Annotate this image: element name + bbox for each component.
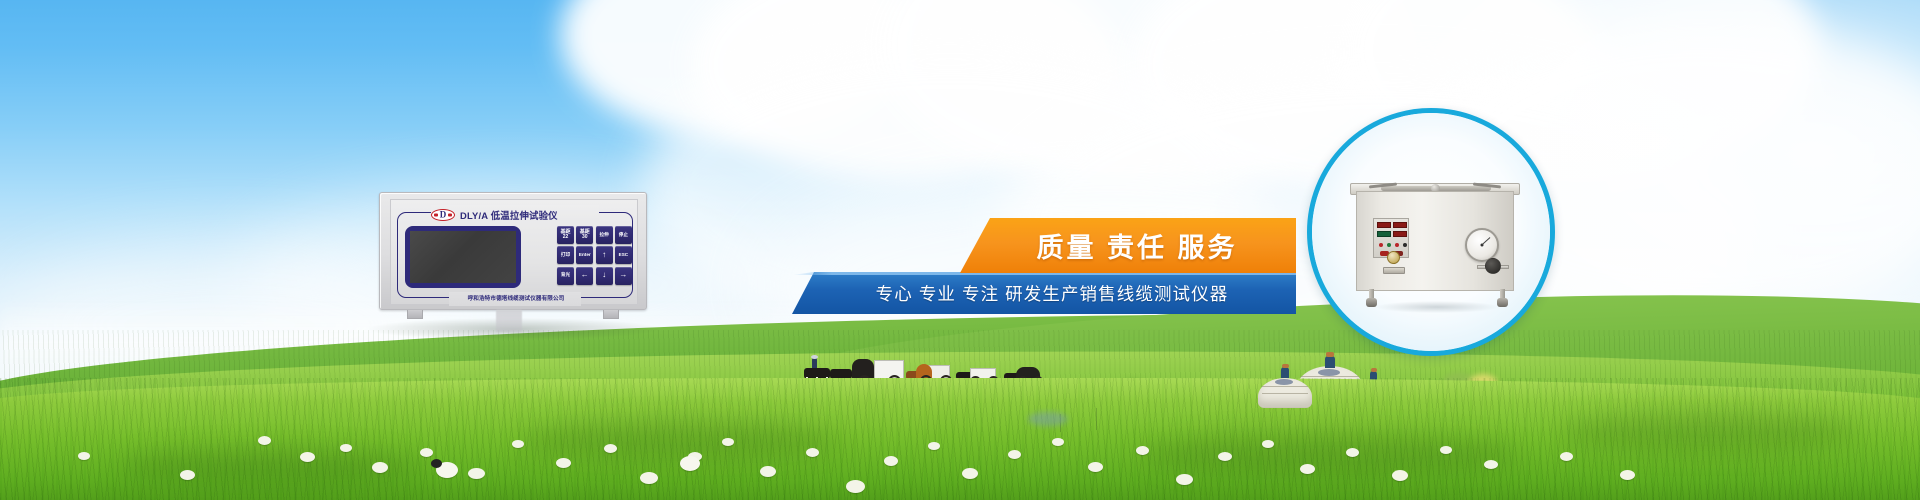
- yurt-decoration: [1318, 369, 1340, 376]
- sheep: [556, 458, 571, 468]
- indicator-light: [1395, 243, 1399, 247]
- sheep: [1052, 438, 1064, 446]
- sheep-foreground: [436, 462, 458, 478]
- sheep: [1300, 464, 1315, 474]
- sheep: [722, 438, 734, 446]
- yurt-crown: [1281, 367, 1289, 378]
- device-front-panel: D DLY/A 低温拉伸试验仪 基距22 基距30 拉伸 停止 打印 Enter…: [390, 199, 638, 305]
- sheep-foreground: [680, 456, 700, 471]
- sheep: [372, 462, 388, 473]
- time-display: [1393, 222, 1407, 228]
- sheep: [604, 444, 617, 453]
- sheep-head: [431, 459, 442, 468]
- yurt-band: [1262, 393, 1307, 394]
- yurt-decoration: [1275, 379, 1293, 385]
- sheep: [640, 472, 658, 484]
- key-print[interactable]: 打印: [557, 246, 574, 264]
- sheep: [1218, 452, 1232, 461]
- sheep: [806, 448, 819, 457]
- sheep: [340, 444, 352, 452]
- key-enter[interactable]: Enter: [576, 246, 593, 264]
- key-backlight[interactable]: 背光: [557, 267, 574, 285]
- product-circle-ring: [1307, 108, 1555, 356]
- tent-shape: [1028, 412, 1068, 426]
- key-arrow-up[interactable]: ↑: [596, 246, 613, 264]
- device-foot-left: [407, 310, 423, 319]
- control-display-row: [1377, 231, 1407, 237]
- sheep: [760, 466, 776, 477]
- key-arrow-right[interactable]: →: [615, 267, 632, 285]
- sheep: [1440, 446, 1452, 454]
- device-case: D DLY/A 低温拉伸试验仪 基距22 基距30 拉伸 停止 打印 Enter…: [379, 192, 647, 310]
- device-lcd-screen: [405, 226, 521, 288]
- device-company-name: 呼和浩特市德塔线缆测试仪器有限公司: [449, 293, 583, 305]
- set-display: [1377, 231, 1391, 237]
- herder-hat: [811, 355, 818, 359]
- key-stop[interactable]: 停止: [615, 226, 632, 244]
- logo-wing-left: [434, 213, 438, 216]
- caster-wheel-right: [1497, 289, 1508, 307]
- device-keypad: 基距22 基距30 拉伸 停止 打印 Enter ↑ ESC 背光 ← ↓ →: [557, 226, 633, 288]
- indicator-light: [1379, 243, 1383, 247]
- grass-shadow: [1560, 412, 1860, 452]
- yurt-band: [1262, 386, 1307, 387]
- blue-slogan-text: 专心 专业 专注 研发生产销售线缆测试仪器: [792, 272, 1296, 314]
- sheep: [846, 480, 865, 493]
- sheep: [1392, 470, 1408, 481]
- sheep: [1346, 448, 1359, 457]
- device-stand-post: [496, 310, 522, 332]
- pressure-gauge: [1465, 228, 1499, 262]
- brass-valve: [1387, 251, 1400, 264]
- device-model-title: DLY/A 低温拉伸试验仪: [460, 208, 558, 222]
- device-foot-right: [603, 310, 619, 319]
- chamber-shadow: [1376, 301, 1498, 313]
- key-arrow-down[interactable]: ↓: [596, 267, 613, 285]
- key-esc[interactable]: ESC: [615, 246, 632, 264]
- sheep: [1560, 452, 1573, 461]
- yurt: [1258, 364, 1312, 408]
- valve-plate: [1383, 267, 1405, 274]
- control-display-row: [1377, 222, 1407, 228]
- alarm-display: [1393, 231, 1407, 237]
- logo-letter: D: [440, 210, 447, 219]
- gauge-hub: [1481, 244, 1484, 247]
- sheep: [512, 440, 524, 448]
- caster-roller: [1497, 298, 1508, 307]
- key-gauge-22[interactable]: 基距22: [557, 226, 574, 244]
- drain-port: [1485, 258, 1501, 274]
- sheep: [928, 442, 940, 450]
- sheep: [258, 436, 271, 445]
- product-circle: [1307, 108, 1555, 356]
- sheep: [78, 452, 90, 460]
- key-arrow-left[interactable]: ←: [576, 267, 593, 285]
- sheep: [1620, 470, 1635, 480]
- sheep: [962, 468, 978, 479]
- sheep: [420, 448, 433, 457]
- fence-post: [1096, 408, 1097, 430]
- sheep: [180, 470, 195, 480]
- sheep: [884, 456, 898, 466]
- grass-shadow: [1140, 432, 1520, 476]
- orange-slogan-banner: 质量 责任 服务: [960, 218, 1296, 273]
- yurt-crown: [1325, 356, 1335, 368]
- sheep: [300, 452, 315, 462]
- orange-slogan-text: 质量 责任 服务: [960, 218, 1296, 273]
- sheep: [1008, 450, 1021, 459]
- device-title-row: D DLY/A 低温拉伸试验仪: [431, 208, 601, 221]
- key-stretch[interactable]: 拉伸: [596, 226, 613, 244]
- grass-shadow: [520, 420, 840, 460]
- logo-wing-right: [448, 213, 452, 216]
- sheep: [1176, 474, 1193, 485]
- aging-test-chamber: [1350, 175, 1520, 307]
- tensile-tester-device: D DLY/A 低温拉伸试验仪 基距22 基距30 拉伸 停止 打印 Enter…: [379, 192, 647, 318]
- lcd-surface: [410, 231, 516, 283]
- company-logo-icon: D: [431, 209, 455, 221]
- temp-display: [1377, 222, 1391, 228]
- blue-slogan-banner: 专心 专业 专注 研发生产销售线缆测试仪器: [792, 272, 1296, 314]
- sheep: [1088, 462, 1103, 472]
- indicator-light: [1387, 243, 1391, 247]
- yurt-cap: [1371, 368, 1377, 372]
- key-gauge-30[interactable]: 基距30: [576, 226, 593, 244]
- sheep: [1262, 440, 1274, 448]
- sheep: [468, 468, 485, 479]
- chamber-body: [1356, 191, 1514, 291]
- hero-banner: D DLY/A 低温拉伸试验仪 基距22 基距30 拉伸 停止 打印 Enter…: [0, 0, 1920, 500]
- indicator-light: [1403, 243, 1407, 247]
- sheep: [1484, 460, 1498, 469]
- sheep: [1136, 446, 1149, 455]
- yurt-cap: [1282, 364, 1289, 368]
